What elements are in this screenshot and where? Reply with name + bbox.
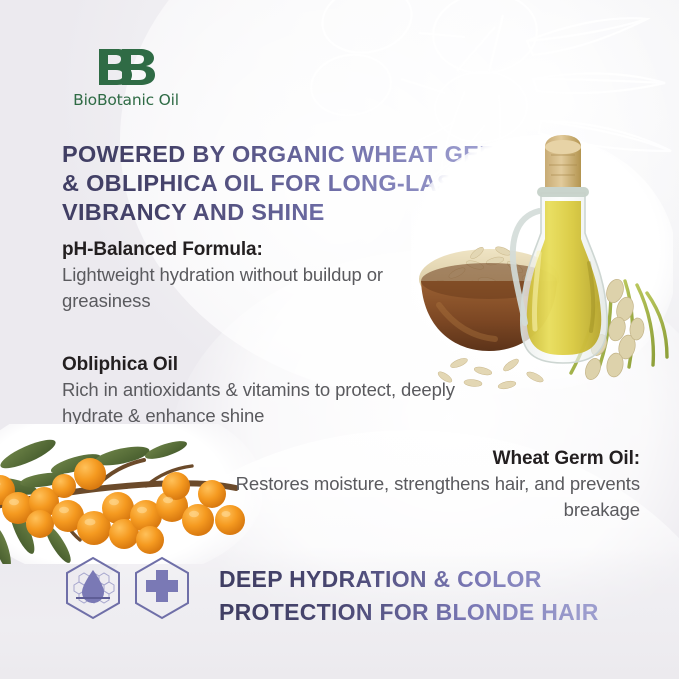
plus-cross-hexagon-icon[interactable] <box>133 556 191 620</box>
infographic-canvas: BioBotanic Oil POWERED BY ORGANIC WHEAT … <box>0 0 679 679</box>
brand-name: BioBotanic Oil <box>66 91 186 109</box>
feature-body: Rich in antioxidants & vitamins to prote… <box>62 377 482 429</box>
benefit-badges <box>64 556 191 620</box>
feature-obliphica-oil: Obliphica Oil Rich in antioxidants & vit… <box>62 352 482 429</box>
feature-title: pH-Balanced Formula: <box>62 237 462 262</box>
feature-ph-balanced-formula: pH-Balanced Formula: Lightweight hydrati… <box>62 237 462 314</box>
bb-monogram-icon <box>96 46 156 88</box>
feature-body: Restores moisture, strengthens hair, and… <box>228 471 640 523</box>
brand-logo: BioBotanic Oil <box>66 46 186 109</box>
water-droplet-hexagon-icon[interactable] <box>64 556 122 620</box>
feature-body: Lightweight hydration without buildup or… <box>62 262 462 314</box>
feature-wheat-germ-oil: Wheat Germ Oil: Restores moisture, stren… <box>228 446 640 523</box>
feature-title: Wheat Germ Oil: <box>228 446 640 471</box>
footer-title: DEEP HYDRATION & COLOR PROTECTION FOR BL… <box>219 563 669 629</box>
feature-title: Obliphica Oil <box>62 352 482 377</box>
sea-buckthorn-photo <box>0 424 262 564</box>
